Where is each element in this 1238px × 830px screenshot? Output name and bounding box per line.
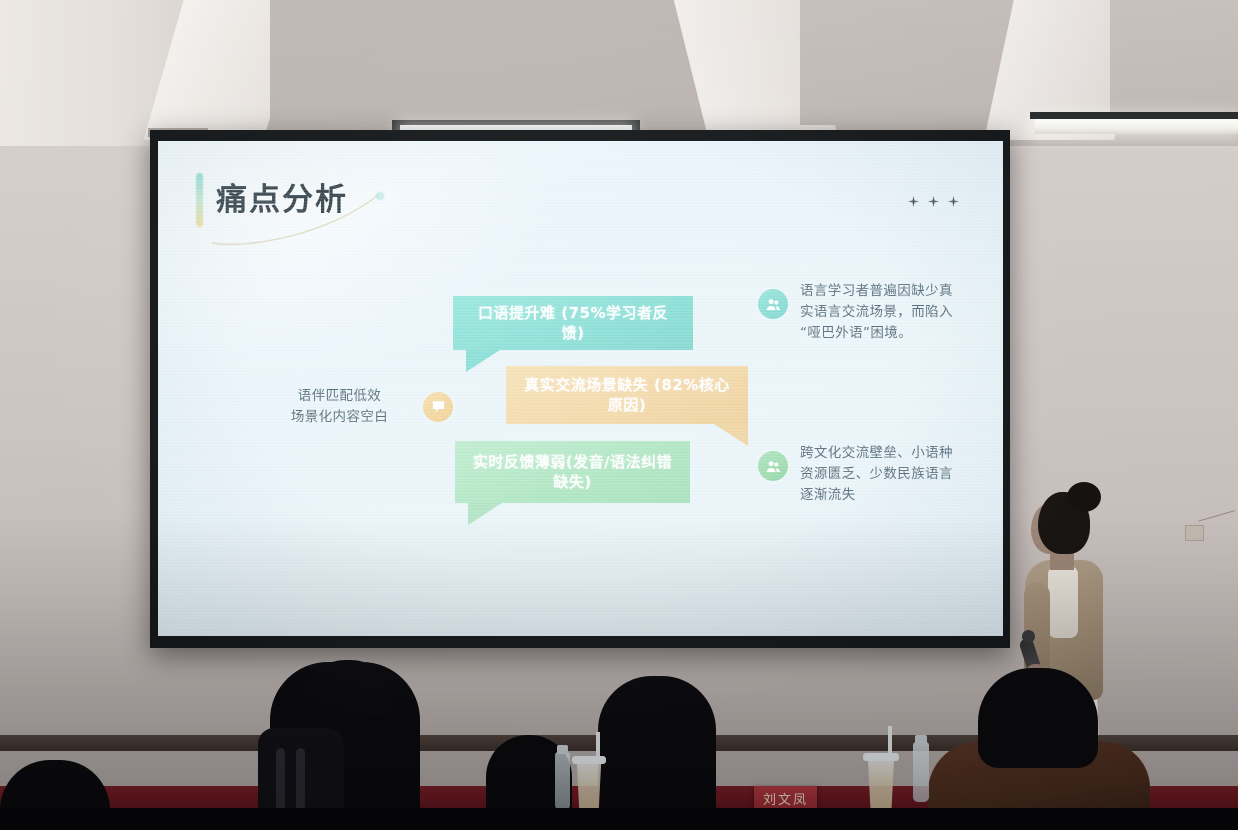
drink-cup-lid [863,753,899,761]
note-right-2: 跨文化交流壁垒、小语种 资源匮乏、少数民族语言 逐渐流失 [758,443,973,506]
pain-point-bubble-1: 口语提升难 (75%学习者反馈) [453,296,693,350]
slide-title: 痛点分析 [216,174,348,219]
ceiling-light-fixture [1035,118,1238,134]
bubble-tail-3 [468,503,502,525]
note-right-2-text: 跨文化交流壁垒、小语种 资源匮乏、少数民族语言 逐渐流失 [800,443,953,506]
presenter-hair-bun [1067,482,1101,512]
people-group-icon [758,289,788,319]
bubble-tail-1 [466,350,500,372]
audience-silhouette [978,668,1098,768]
ceiling-panel [1110,0,1238,125]
pain-point-bubble-3: 实时反馈薄弱(发音/语法纠错缺失) [455,441,690,503]
presenter-shirt [1048,566,1078,638]
sparkle-icon [948,196,959,207]
water-bottle [555,752,570,810]
note-left-text: 语伴匹配低效 场景化内容空白 [268,386,411,428]
title-accent-bar [196,173,203,227]
ceiling-light-housing [1030,112,1238,119]
pain-point-bubble-2: 真实交流场景缺失 (82%核心原因) [506,366,748,424]
sparkle-decoration-group [908,196,959,207]
water-bottle-cap [557,745,568,754]
drink-cup-lid [572,756,606,764]
backpack-strap [276,748,285,812]
presentation-photo-scene: 痛点分析 口语提升难 (75%学习者反馈) 真实交流场景缺失 (82%核心原因)… [0,0,1238,830]
microphone-head [1022,630,1035,643]
projection-screen: 痛点分析 口语提升难 (75%学习者反馈) 真实交流场景缺失 (82%核心原因)… [150,130,1010,648]
bubble-tail-2 [714,424,748,446]
water-bottle-cap [915,735,927,745]
audience-silhouette [598,676,716,830]
slide-canvas: 痛点分析 口语提升难 (75%学习者反馈) 真实交流场景缺失 (82%核心原因)… [158,141,1003,636]
people-group-icon [758,451,788,481]
note-right-1: 语言学习者普遍因缺少真 实语言交流场景，而陷入 “哑巴外语”困境。 [758,281,973,344]
sparkle-icon [928,196,939,207]
water-bottle [913,742,929,802]
note-left: 语伴匹配低效 场景化内容空白 [268,386,453,428]
sparkle-icon [908,196,919,207]
note-right-1-text: 语言学习者普遍因缺少真 实语言交流场景，而陷入 “哑巴外语”困境。 [800,281,953,344]
backpack-strap [296,748,305,812]
drink-cup [575,760,603,815]
foreground-shadow [0,808,1238,830]
speech-bubble-icon [423,392,453,422]
drink-cup [866,757,896,815]
